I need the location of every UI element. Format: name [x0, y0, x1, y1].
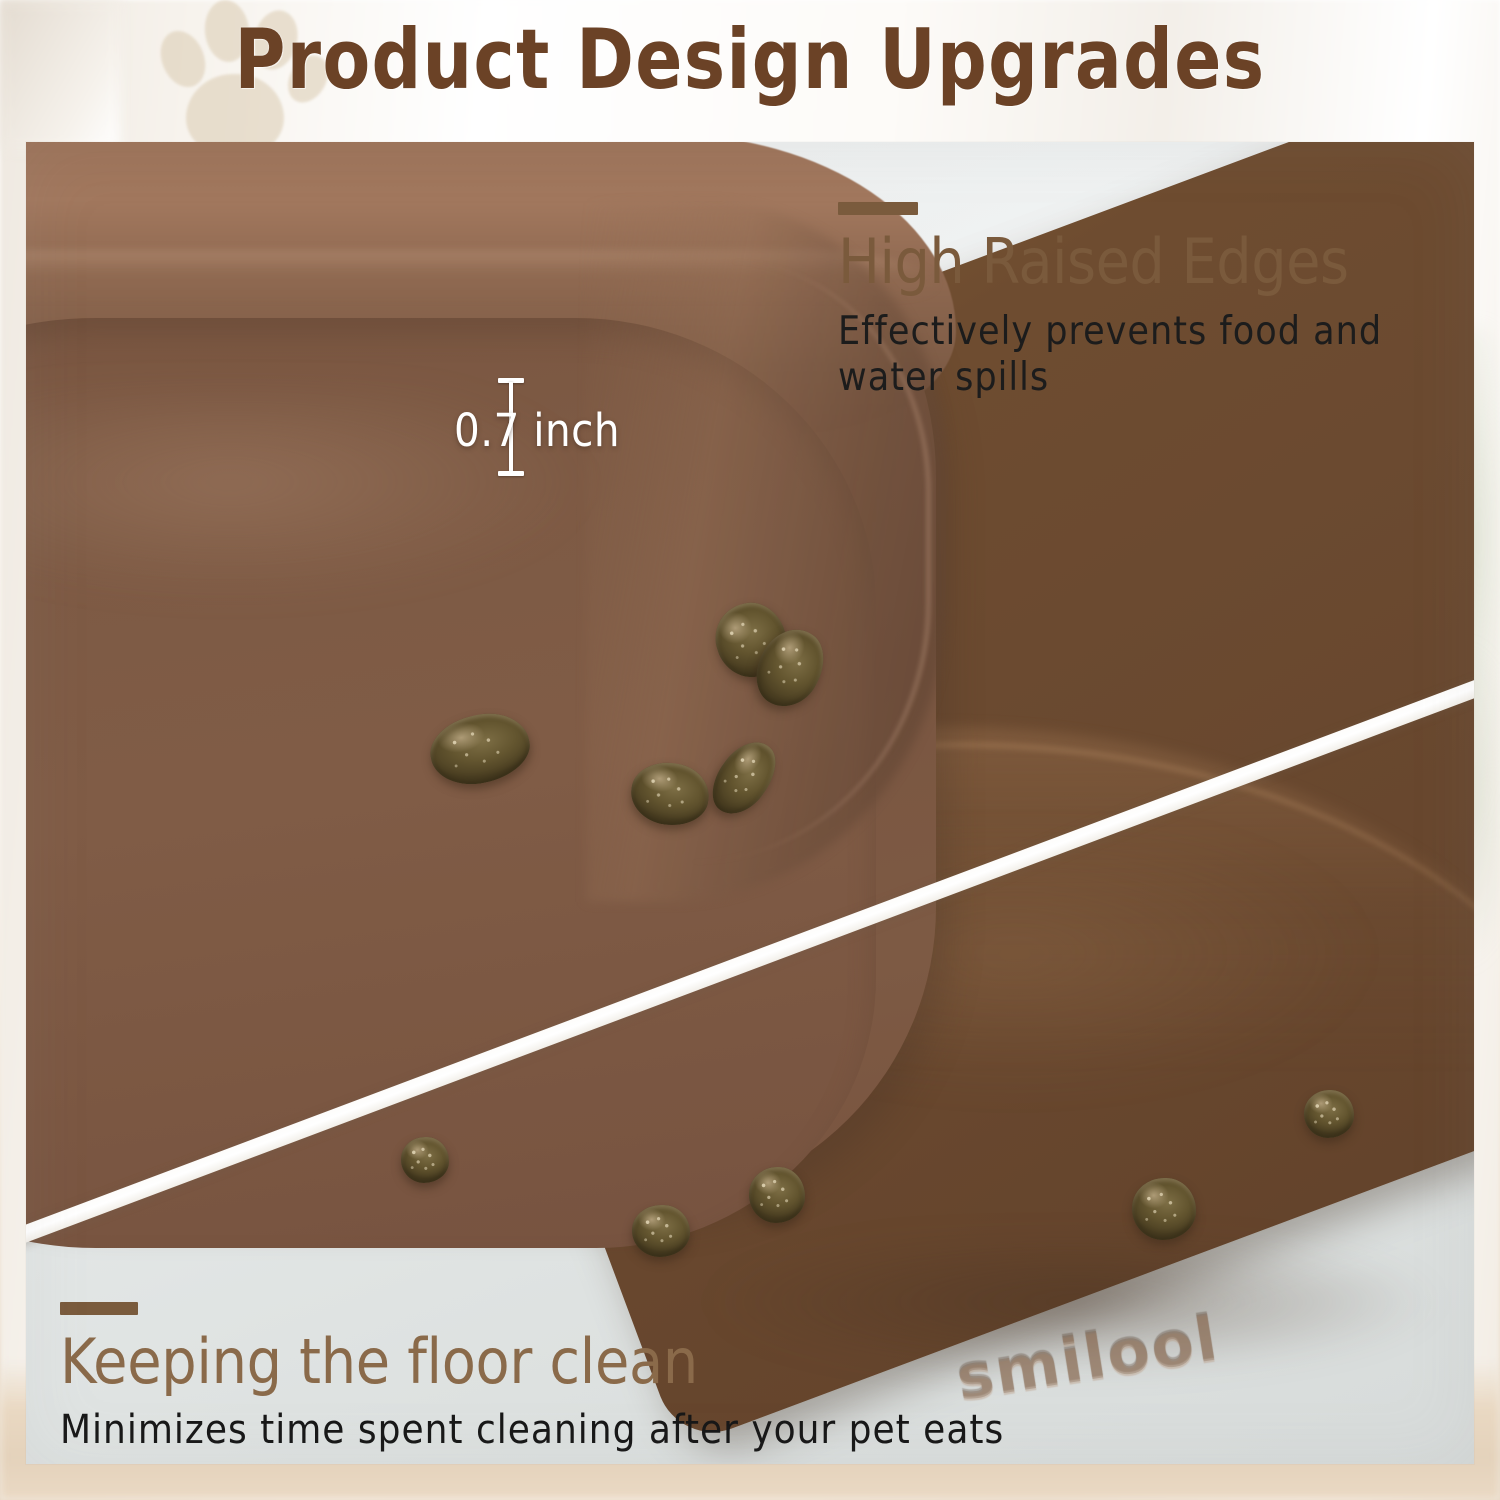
kibble-piece — [749, 1167, 805, 1223]
callout-heading: High Raised Edges — [838, 229, 1458, 295]
product-design-upgrades-infographic: Product Design Upgrades smilool — [0, 0, 1500, 1500]
kibble-piece — [401, 1137, 449, 1183]
kibble-piece — [1132, 1178, 1196, 1240]
dimension-label: 0.7 inch — [454, 404, 620, 457]
photo-frame: smilool 0.7 inch High Rais — [26, 142, 1474, 1464]
callout-rule — [838, 202, 918, 215]
page-title: Product Design Upgrades — [53, 18, 1448, 101]
callout-subtext: Minimizes time spent cleaning after your… — [60, 1407, 1260, 1453]
product-photo: smilool 0.7 inch High Rais — [26, 142, 1474, 1464]
callout-keeping-floor-clean: Keeping the floor clean Minimizes time s… — [60, 1302, 1260, 1453]
callout-heading: Keeping the floor clean — [60, 1329, 1260, 1395]
kibble-piece — [1304, 1090, 1354, 1138]
callout-high-raised-edges: High Raised Edges Effectively prevents f… — [838, 202, 1458, 401]
callout-rule — [60, 1302, 138, 1315]
callout-subtext: Effectively prevents food and water spil… — [838, 309, 1438, 401]
kibble-piece — [632, 1205, 690, 1257]
